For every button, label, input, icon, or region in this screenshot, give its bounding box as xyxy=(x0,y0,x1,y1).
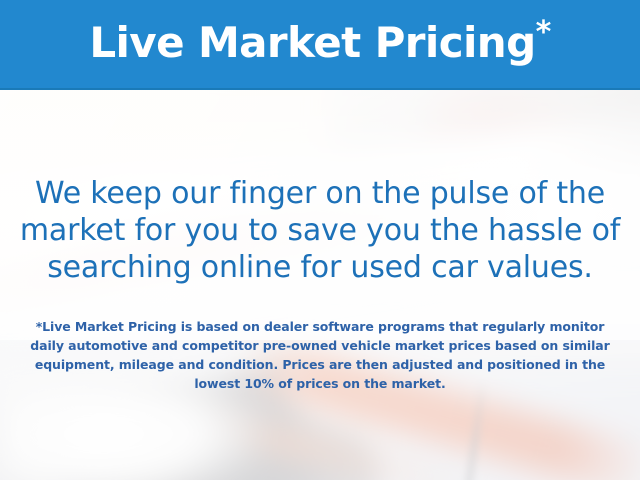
disclaimer-line-2: daily automotive and competitor pre-owne… xyxy=(24,336,616,355)
header-bar: Live Market Pricing* xyxy=(0,0,640,90)
title-asterisk: * xyxy=(536,15,551,50)
page-title: Live Market Pricing* xyxy=(89,22,550,64)
page-title-text: Live Market Pricing xyxy=(89,18,535,67)
disclaimer-line-4: lowest 10% of prices on the market. xyxy=(24,374,616,393)
disclaimer-line-1: *Live Market Pricing is based on dealer … xyxy=(24,317,616,336)
disclaimer-line-3: equipment, mileage and condition. Prices… xyxy=(24,355,616,374)
headline-line-2: market for you to save you the hassle of xyxy=(18,212,622,249)
live-market-pricing-banner: Live Market Pricing* We keep our finger … xyxy=(0,0,640,480)
disclaimer: *Live Market Pricing is based on dealer … xyxy=(0,317,640,393)
headline: We keep our finger on the pulse of the m… xyxy=(0,175,640,286)
headline-line-3: searching online for used car values. xyxy=(18,249,622,286)
headline-line-1: We keep our finger on the pulse of the xyxy=(18,175,622,212)
